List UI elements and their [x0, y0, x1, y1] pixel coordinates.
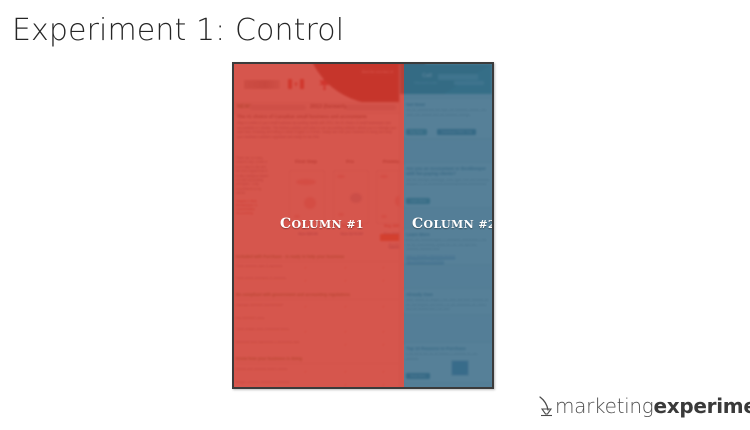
- column-1-label-initial: C: [280, 216, 292, 232]
- screenshot-frame: Proudly Canadian CHOICE Meet the new fac…: [232, 62, 494, 389]
- page-title: Experiment 1: Control: [12, 13, 344, 48]
- column-2-label-rest: OLUMN #2: [424, 218, 492, 231]
- marketing-experiments-logo: marketing experiments: [538, 394, 750, 418]
- column-1-label: COLUMN #1: [280, 216, 364, 232]
- web-page-screenshot: Proudly Canadian CHOICE Meet the new fac…: [234, 64, 492, 387]
- logo-word-marketing: marketing: [555, 394, 654, 418]
- column-1-label-rest: OLUMN #1: [292, 218, 364, 231]
- funnel-icon: [538, 395, 554, 417]
- logo-word-experiments: experiments: [654, 394, 750, 418]
- column-2-label-initial: C: [412, 216, 424, 232]
- column-2-label: COLUMN #2: [412, 216, 492, 232]
